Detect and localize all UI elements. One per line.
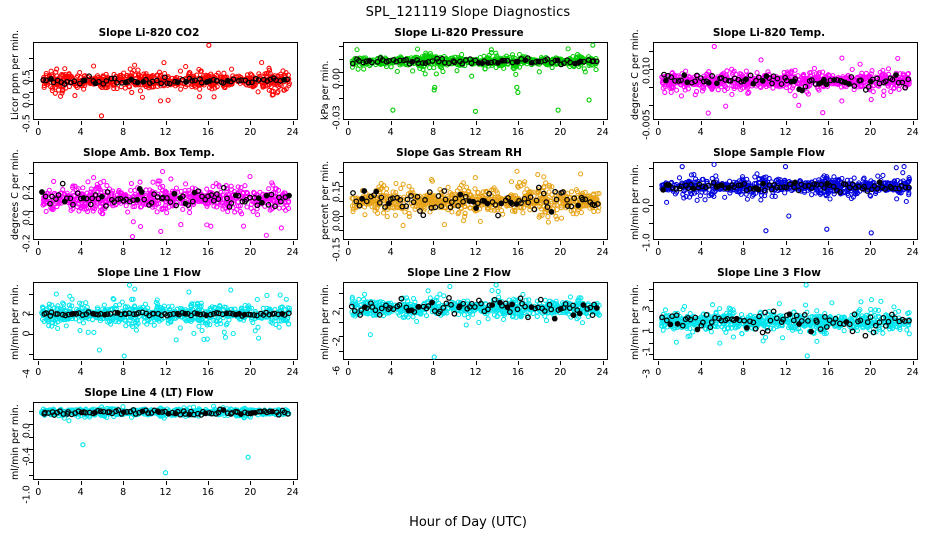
x-tick-mark xyxy=(743,361,744,365)
y-tick-label: 3 xyxy=(642,289,653,329)
scatter-points xyxy=(344,43,607,119)
y-tick-mark xyxy=(649,168,653,169)
plot-area xyxy=(653,162,918,240)
x-tick-mark xyxy=(81,481,82,485)
x-tick-label: 16 xyxy=(818,247,838,258)
plot-area xyxy=(343,282,608,360)
panel-slope-line-4-lt-flow: Slope Line 4 (LT) Flow0.0-0.4-1.0ml/min … xyxy=(0,385,312,505)
y-tick-label: 0.00 xyxy=(332,58,343,98)
x-tick-mark xyxy=(658,121,659,125)
x-tick-mark xyxy=(348,241,349,245)
x-tick-label: 8 xyxy=(423,247,443,258)
panel-slope-li-820-temp: Slope Li-820 Temp.-0.0050.010degrees C p… xyxy=(620,25,932,145)
x-tick-mark xyxy=(701,241,702,245)
x-tick-mark xyxy=(603,361,604,365)
y-axis-label: degrees C per min. xyxy=(630,29,641,120)
x-tick-label: 12 xyxy=(156,127,176,138)
x-tick-mark xyxy=(348,361,349,365)
x-tick-label: 16 xyxy=(508,247,528,258)
scatter-points xyxy=(654,283,917,359)
x-tick-label: 20 xyxy=(240,247,260,258)
x-tick-mark xyxy=(828,121,829,125)
x-tick-mark xyxy=(208,481,209,485)
scatter-points xyxy=(34,43,297,119)
x-tick-label: 8 xyxy=(113,247,133,258)
x-tick-mark xyxy=(391,361,392,365)
x-tick-label: 0 xyxy=(648,127,668,138)
x-tick-label: 0 xyxy=(338,247,358,258)
x-tick-mark xyxy=(166,361,167,365)
x-tick-label: 4 xyxy=(71,247,91,258)
x-tick-mark xyxy=(560,361,561,365)
plot-area xyxy=(653,42,918,120)
y-axis-label: kPa per min. xyxy=(320,61,331,120)
x-tick-mark xyxy=(518,241,519,245)
x-tick-mark xyxy=(476,241,477,245)
y-axis-label: ml/min per min. xyxy=(10,284,21,360)
x-tick-label: 16 xyxy=(198,487,218,498)
x-tick-label: 20 xyxy=(240,367,260,378)
x-tick-mark xyxy=(38,121,39,125)
x-tick-label: 0 xyxy=(338,127,358,138)
x-tick-label: 16 xyxy=(198,127,218,138)
x-tick-mark xyxy=(208,241,209,245)
x-tick-label: 8 xyxy=(733,367,753,378)
x-tick-mark xyxy=(743,121,744,125)
x-tick-label: 20 xyxy=(240,487,260,498)
y-tick-label: 2 xyxy=(22,294,33,334)
panel-slope-line-1-flow: Slope Line 1 Flow-402ml/min per min.0481… xyxy=(0,265,312,385)
diagnostics-figure: SPL_121119 Slope Diagnostics Hour of Day… xyxy=(0,0,936,540)
x-tick-mark xyxy=(123,241,124,245)
x-tick-mark xyxy=(391,241,392,245)
scatter-points xyxy=(344,283,607,359)
panel-title: Slope Sample Flow xyxy=(620,147,918,159)
panel-slope-li-820-pressure: Slope Li-820 Pressure-0.030.00kPa per mi… xyxy=(310,25,622,145)
figure-x-axis-label: Hour of Day (UTC) xyxy=(0,515,936,530)
scatter-points xyxy=(654,43,917,119)
x-tick-mark xyxy=(603,241,604,245)
panel-title: Slope Line 1 Flow xyxy=(0,267,298,279)
x-tick-mark xyxy=(786,241,787,245)
panel-slope-li-820-co2: Slope Li-820 CO2-0.50.00.5Licor ppm per … xyxy=(0,25,312,145)
x-tick-mark xyxy=(348,121,349,125)
x-tick-mark xyxy=(250,241,251,245)
x-tick-label: 20 xyxy=(860,127,880,138)
x-tick-label: 20 xyxy=(860,247,880,258)
x-tick-label: 4 xyxy=(691,127,711,138)
x-tick-mark xyxy=(38,241,39,245)
x-tick-mark xyxy=(701,121,702,125)
x-tick-label: 16 xyxy=(198,367,218,378)
x-tick-mark xyxy=(913,361,914,365)
scatter-points xyxy=(344,163,607,239)
x-tick-label: 4 xyxy=(71,127,91,138)
scatter-points xyxy=(34,163,297,239)
plot-area xyxy=(343,42,608,120)
y-axis-label: ml/min per min. xyxy=(630,284,641,360)
x-tick-label: 24 xyxy=(283,487,303,498)
x-tick-mark xyxy=(250,121,251,125)
plot-area xyxy=(33,402,298,480)
scatter-points xyxy=(34,403,297,479)
panel-slope-gas-stream-rh: Slope Gas Stream RH-0.150.000.15percent … xyxy=(310,145,622,265)
x-tick-label: 16 xyxy=(818,127,838,138)
x-tick-label: 12 xyxy=(466,367,486,378)
y-axis-label: percent per min. xyxy=(320,161,331,240)
scatter-points xyxy=(654,163,917,239)
x-tick-label: 24 xyxy=(283,127,303,138)
y-tick-mark xyxy=(339,46,343,47)
x-tick-label: 20 xyxy=(550,247,570,258)
x-tick-mark xyxy=(701,361,702,365)
plot-area xyxy=(653,282,918,360)
panel-slope-amb-box-temp: Slope Amb. Box Temp.-0.20.00.2degrees C … xyxy=(0,145,312,265)
x-tick-label: 8 xyxy=(113,127,133,138)
x-tick-mark xyxy=(560,121,561,125)
x-tick-mark xyxy=(123,361,124,365)
x-tick-label: 4 xyxy=(691,367,711,378)
x-tick-label: 4 xyxy=(381,127,401,138)
x-tick-mark xyxy=(166,481,167,485)
x-tick-mark xyxy=(743,241,744,245)
x-tick-mark xyxy=(913,241,914,245)
x-tick-mark xyxy=(391,121,392,125)
panel-slope-line-2-flow: Slope Line 2 Flow-6-22ml/min per min.048… xyxy=(310,265,622,385)
x-tick-label: 12 xyxy=(156,247,176,258)
x-tick-label: 8 xyxy=(113,367,133,378)
panel-title: Slope Li-820 CO2 xyxy=(0,27,298,39)
x-tick-label: 24 xyxy=(903,367,923,378)
x-tick-label: 16 xyxy=(508,367,528,378)
y-tick-label: -0.005 xyxy=(642,105,653,145)
x-tick-mark xyxy=(913,121,914,125)
y-tick-label: 0.5 xyxy=(22,58,33,98)
x-tick-label: 8 xyxy=(733,127,753,138)
x-tick-label: 16 xyxy=(508,127,528,138)
x-tick-mark xyxy=(166,121,167,125)
x-tick-mark xyxy=(250,481,251,485)
y-tick-label: -0.4 xyxy=(22,436,33,476)
panel-slope-line-3-flow: Slope Line 3 Flow-3-113ml/min per min.04… xyxy=(620,265,932,385)
x-tick-label: 8 xyxy=(113,487,133,498)
x-tick-label: 0 xyxy=(28,367,48,378)
x-tick-mark xyxy=(293,241,294,245)
x-tick-mark xyxy=(38,361,39,365)
plot-area xyxy=(33,282,298,360)
x-tick-label: 8 xyxy=(733,247,753,258)
x-tick-label: 4 xyxy=(71,367,91,378)
x-tick-mark xyxy=(786,361,787,365)
y-tick-label: 0.15 xyxy=(332,171,343,211)
x-tick-label: 12 xyxy=(776,367,796,378)
x-tick-mark xyxy=(870,361,871,365)
x-tick-label: 4 xyxy=(71,487,91,498)
x-tick-mark xyxy=(123,121,124,125)
y-axis-label: ml/min per min. xyxy=(10,404,21,480)
x-tick-mark xyxy=(433,361,434,365)
x-tick-mark xyxy=(433,121,434,125)
x-tick-label: 4 xyxy=(381,367,401,378)
x-tick-label: 8 xyxy=(423,367,443,378)
x-tick-mark xyxy=(293,121,294,125)
x-tick-mark xyxy=(828,361,829,365)
y-axis-label: ml/min per min. xyxy=(630,164,641,240)
x-tick-mark xyxy=(81,361,82,365)
panel-title: Slope Amb. Box Temp. xyxy=(0,147,298,159)
panel-title: Slope Li-820 Pressure xyxy=(310,27,608,39)
x-tick-mark xyxy=(658,361,659,365)
x-tick-mark xyxy=(123,481,124,485)
x-tick-label: 12 xyxy=(776,127,796,138)
x-tick-mark xyxy=(81,121,82,125)
scatter-points xyxy=(34,283,297,359)
x-tick-label: 4 xyxy=(691,247,711,258)
figure-title: SPL_121119 Slope Diagnostics xyxy=(0,5,936,20)
y-axis-label: ml/min per min. xyxy=(320,284,331,360)
x-tick-mark xyxy=(658,241,659,245)
x-tick-mark xyxy=(786,121,787,125)
panel-slope-sample-flow: Slope Sample Flow-1.00.0ml/min per min.0… xyxy=(620,145,932,265)
x-tick-label: 20 xyxy=(550,127,570,138)
x-tick-mark xyxy=(828,241,829,245)
x-tick-label: 0 xyxy=(648,367,668,378)
x-tick-label: 20 xyxy=(860,367,880,378)
x-tick-mark xyxy=(518,361,519,365)
panel-title: Slope Gas Stream RH xyxy=(310,147,608,159)
x-tick-mark xyxy=(208,361,209,365)
x-tick-label: 4 xyxy=(381,247,401,258)
x-tick-mark xyxy=(433,241,434,245)
x-tick-label: 0 xyxy=(648,247,668,258)
x-tick-label: 12 xyxy=(466,247,486,258)
plot-area xyxy=(33,162,298,240)
y-tick-label: 0.0 xyxy=(642,186,653,226)
x-tick-mark xyxy=(476,121,477,125)
x-tick-label: 20 xyxy=(550,367,570,378)
x-tick-label: 24 xyxy=(283,367,303,378)
x-tick-label: 0 xyxy=(28,127,48,138)
x-tick-label: 16 xyxy=(198,247,218,258)
x-tick-label: 24 xyxy=(593,367,613,378)
plot-area xyxy=(33,42,298,120)
x-tick-mark xyxy=(476,361,477,365)
y-tick-label: 0.2 xyxy=(22,173,33,213)
x-tick-label: 24 xyxy=(283,247,303,258)
x-tick-mark xyxy=(81,241,82,245)
panel-title: Slope Line 2 Flow xyxy=(310,267,608,279)
x-tick-mark xyxy=(38,481,39,485)
x-tick-label: 24 xyxy=(593,127,613,138)
x-tick-mark xyxy=(518,121,519,125)
x-tick-mark xyxy=(250,361,251,365)
y-axis-label: Licor ppm per min. xyxy=(10,30,21,120)
x-tick-label: 0 xyxy=(338,367,358,378)
x-tick-label: 24 xyxy=(593,247,613,258)
x-tick-mark xyxy=(870,121,871,125)
x-tick-label: 20 xyxy=(240,127,260,138)
x-tick-mark xyxy=(293,481,294,485)
y-tick-label: 0.010 xyxy=(642,51,653,91)
x-tick-label: 12 xyxy=(156,487,176,498)
x-tick-mark xyxy=(560,241,561,245)
panel-title: Slope Line 3 Flow xyxy=(620,267,918,279)
x-tick-mark xyxy=(166,241,167,245)
x-tick-label: 8 xyxy=(423,127,443,138)
x-tick-mark xyxy=(208,121,209,125)
plot-area xyxy=(343,162,608,240)
x-tick-label: 12 xyxy=(466,127,486,138)
x-tick-label: 12 xyxy=(776,247,796,258)
y-tick-label: 2 xyxy=(332,293,343,333)
x-tick-mark xyxy=(603,121,604,125)
x-tick-label: 16 xyxy=(818,367,838,378)
x-tick-label: 12 xyxy=(156,367,176,378)
x-tick-label: 0 xyxy=(28,487,48,498)
x-tick-label: 24 xyxy=(903,127,923,138)
x-tick-label: 0 xyxy=(28,247,48,258)
panel-title: Slope Line 4 (LT) Flow xyxy=(0,387,298,399)
x-tick-label: 24 xyxy=(903,247,923,258)
panel-title: Slope Li-820 Temp. xyxy=(620,27,918,39)
x-tick-mark xyxy=(870,241,871,245)
x-tick-mark xyxy=(293,361,294,365)
y-axis-label: degrees C per min. xyxy=(10,149,21,240)
